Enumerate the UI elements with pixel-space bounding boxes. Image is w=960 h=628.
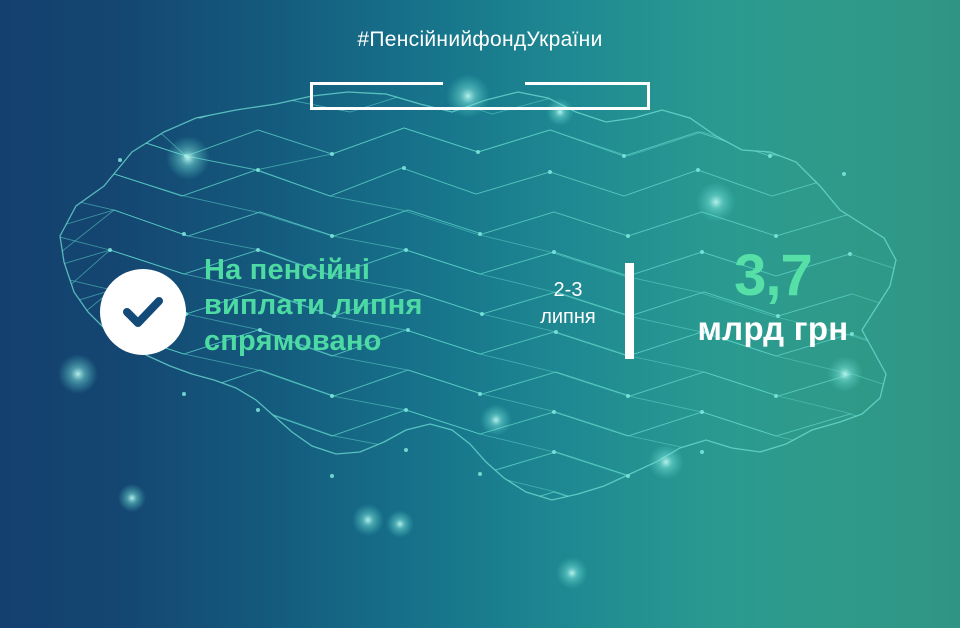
headline-line-1: На пенсійні	[204, 253, 514, 288]
content-row: На пенсійні виплати липня спрямовано 2-3…	[0, 255, 960, 380]
frame-edge-top-right	[525, 82, 650, 85]
frame-edge-right	[647, 82, 650, 110]
headline: На пенсійні виплати липня спрямовано	[204, 253, 514, 359]
frame-edge-left	[310, 82, 313, 110]
frame-edge-bottom	[310, 107, 650, 110]
headline-line-3: спрямовано	[204, 324, 514, 359]
date-days: 2-3	[522, 277, 614, 304]
date-month: липня	[522, 304, 614, 331]
logo-placeholder-frame	[310, 82, 650, 110]
amount-unit: млрд грн	[648, 311, 898, 347]
headline-line-2: виплати липня	[204, 288, 514, 323]
hashtag-text: #ПенсійнийфондУкраїни	[0, 28, 960, 52]
frame-edge-top-left	[310, 82, 443, 85]
vertical-divider	[625, 263, 634, 359]
check-badge	[100, 269, 186, 355]
amount-value: 3,7	[648, 247, 898, 305]
amount-block: 3,7 млрд грн	[648, 247, 898, 347]
check-icon	[117, 286, 169, 338]
date-range: 2-3 липня	[522, 277, 614, 331]
poster-canvas: #ПенсійнийфондУкраїни На пенсійні виплат…	[0, 0, 960, 628]
